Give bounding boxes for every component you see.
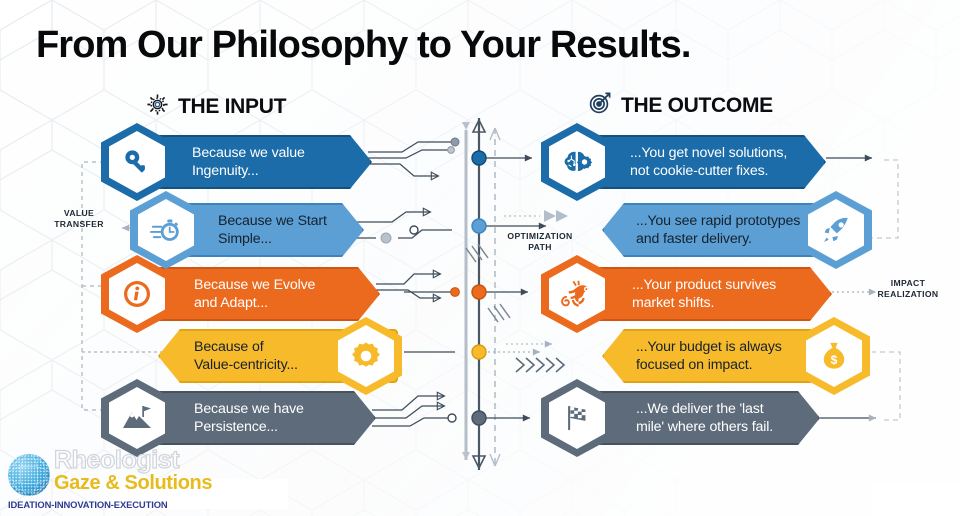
globe-icon xyxy=(6,452,52,498)
gear-icon xyxy=(146,93,169,121)
outcome-row-1[interactable]: ...You get novel solutions, not cookie-c… xyxy=(592,135,826,189)
outcome-row-5[interactable]: ...We deliver the 'last mile' where othe… xyxy=(592,391,820,445)
outcome-row-3-text: ...Your product survives market shifts. xyxy=(632,276,776,312)
label-impact-realization: IMPACT REALIZATION xyxy=(868,278,948,301)
logo-line-1: Rheologist xyxy=(54,448,212,473)
input-row-5-text: Because we have Persistence... xyxy=(194,400,304,436)
input-row-2[interactable]: Because we Start Simple... xyxy=(178,203,364,257)
outcome-row-5-text: ...We deliver the 'last mile' where othe… xyxy=(636,400,773,436)
outcome-chevron-4[interactable]: ...Your budget is always focused on impa… xyxy=(602,329,828,383)
white-overlay-patch-corner xyxy=(872,484,960,516)
chameleon-icon xyxy=(561,280,593,308)
money-bag-icon: $ xyxy=(820,341,848,371)
input-row-1-text: Because we value Ingenuity... xyxy=(192,144,305,180)
input-chevron-1[interactable]: Because we value Ingenuity... xyxy=(152,135,372,189)
input-chevron-3[interactable]: Because we Evolve and Adapt... xyxy=(152,267,380,321)
outcome-row-4-text: ...Your budget is always focused on impa… xyxy=(636,338,782,374)
page-title: From Our Philosophy to Your Results. xyxy=(36,24,690,67)
input-row-5[interactable]: Because we have Persistence... xyxy=(152,391,376,445)
outcome-row-2[interactable]: ...You see rapid prototypes and faster d… xyxy=(602,203,830,257)
checkered-flag-icon xyxy=(562,403,592,433)
outcome-chevron-1[interactable]: ...You get novel solutions, not cookie-c… xyxy=(592,135,826,189)
input-row-4-text: Because of Value-centricity... xyxy=(194,338,298,374)
outcome-chevron-2[interactable]: ...You see rapid prototypes and faster d… xyxy=(602,203,830,257)
target-icon xyxy=(588,91,612,120)
input-row-3[interactable]: Because we Evolve and Adapt... xyxy=(152,267,380,321)
column-header-input: THE INPUT xyxy=(146,93,286,121)
brand-logo: Rheologist Gaze & Solutions IDEATION-INN… xyxy=(4,450,214,512)
outcome-row-2-text: ...You see rapid prototypes and faster d… xyxy=(636,212,800,248)
outcome-chevron-3[interactable]: ...Your product survives market shifts. xyxy=(592,267,832,321)
stopwatch-icon xyxy=(150,215,182,245)
column-header-input-label: THE INPUT xyxy=(178,95,286,119)
input-chevron-5[interactable]: Because we have Persistence... xyxy=(152,391,376,445)
rocket-icon xyxy=(821,215,851,245)
info-icon xyxy=(121,278,153,310)
outcome-row-4[interactable]: ...Your budget is always focused on impa… xyxy=(602,329,828,383)
gear-solid-icon xyxy=(350,340,382,372)
input-row-1[interactable]: Because we value Ingenuity... xyxy=(152,135,372,189)
input-row-2-text: Because we Start Simple... xyxy=(218,212,327,248)
input-chevron-2[interactable]: Because we Start Simple... xyxy=(178,203,364,257)
input-row-3-text: Because we Evolve and Adapt... xyxy=(194,276,315,312)
column-header-outcome-label: THE OUTCOME xyxy=(621,94,773,118)
key-icon xyxy=(122,147,152,177)
logo-tagline: IDEATION-INNOVATION-EXECUTION xyxy=(8,499,168,510)
logo-line-2: Gaze & Solutions xyxy=(54,473,212,494)
column-header-outcome: THE OUTCOME xyxy=(588,91,773,120)
mountain-flag-icon xyxy=(121,404,153,432)
label-optimization-path: OPTIMIZATION PATH xyxy=(498,231,582,254)
outcome-row-3[interactable]: ...Your product survives market shifts. xyxy=(592,267,832,321)
outcome-row-1-text: ...You get novel solutions, not cookie-c… xyxy=(630,144,787,180)
svg-text:$: $ xyxy=(831,353,838,367)
label-value-transfer: VALUE TRANSFER xyxy=(48,208,110,231)
infographic-canvas: From Our Philosophy to Your Results. THE… xyxy=(0,0,960,516)
brain-gear-icon xyxy=(561,147,593,177)
outcome-chevron-5[interactable]: ...We deliver the 'last mile' where othe… xyxy=(592,391,820,445)
